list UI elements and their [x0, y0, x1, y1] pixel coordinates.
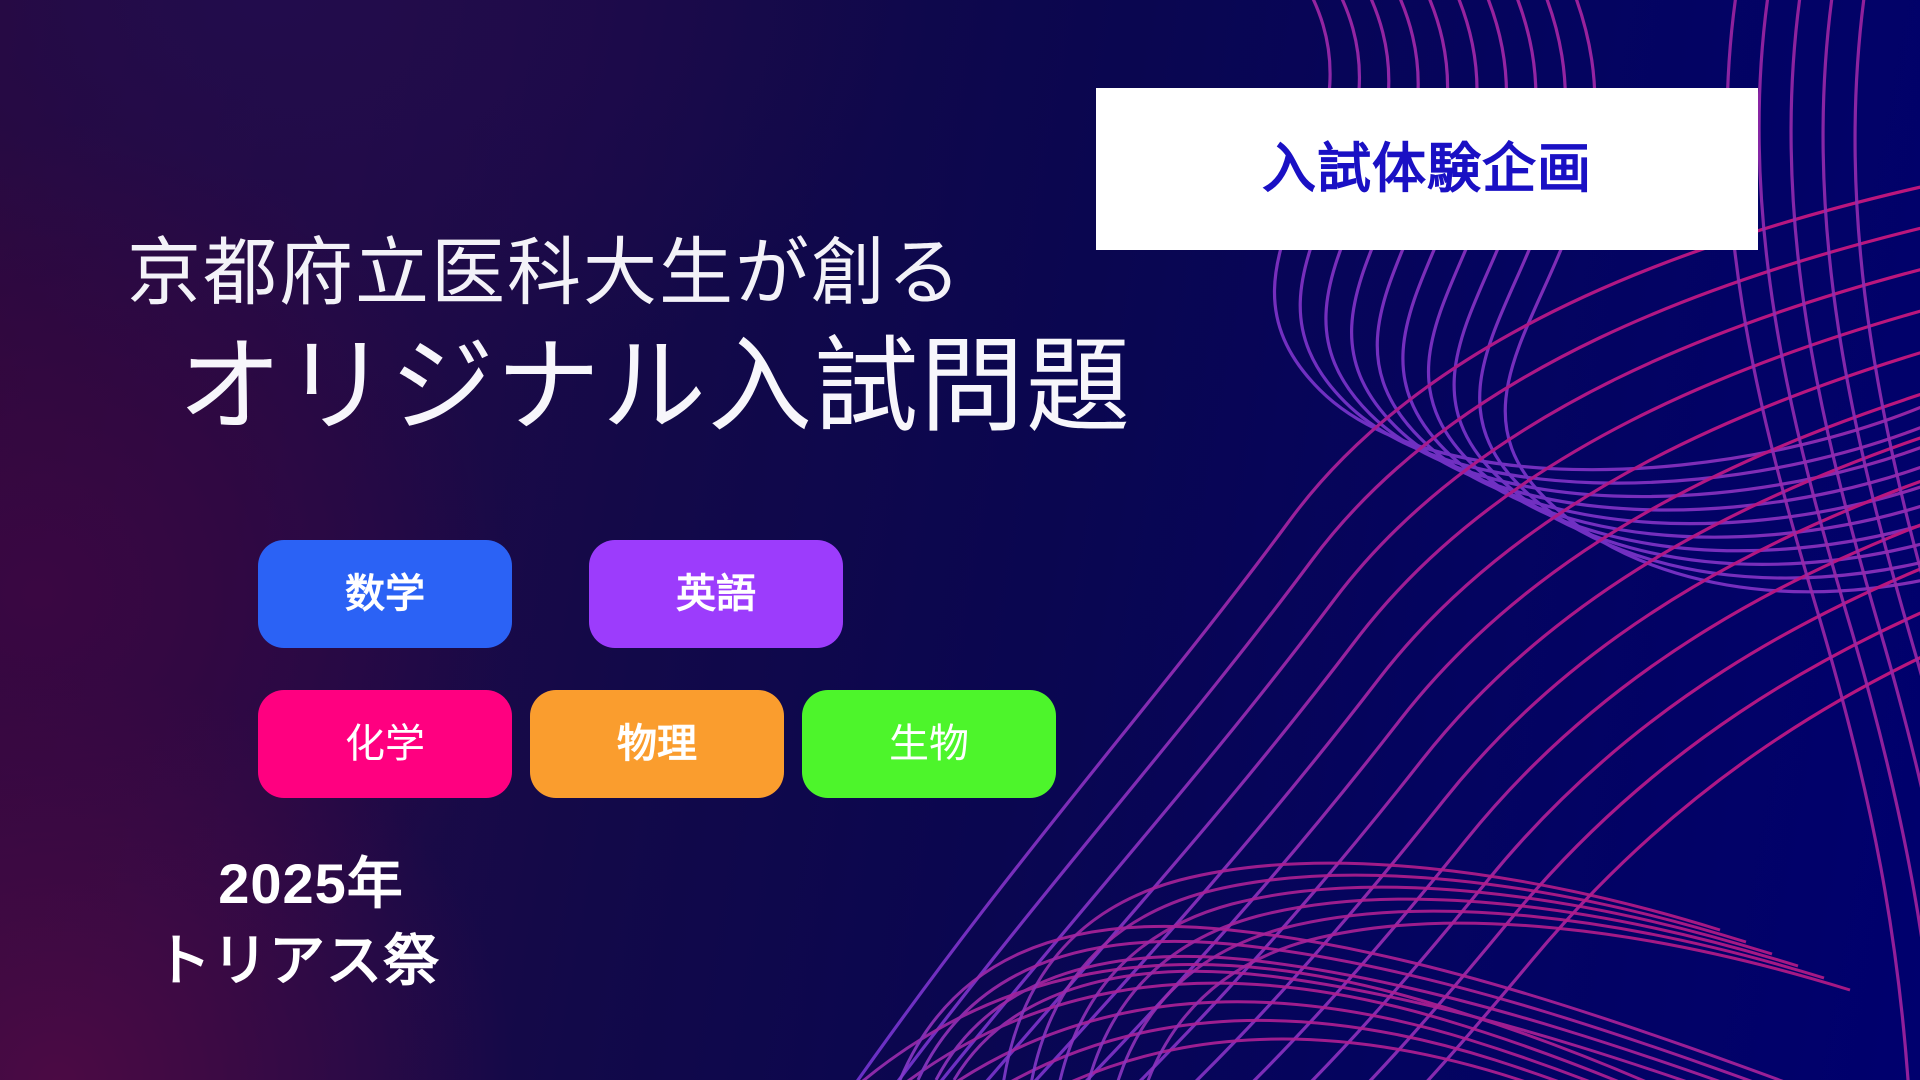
subject-pill-math-label: 数学: [345, 574, 425, 614]
subject-pill-english[interactable]: 英語: [589, 540, 843, 648]
campaign-badge: 入試体験企画: [1096, 88, 1758, 250]
subject-pill-biology-label: 生物: [889, 724, 969, 764]
subject-pill-biology[interactable]: 生物: [802, 690, 1056, 798]
subject-pill-row-1: 数学 英語: [258, 540, 843, 648]
subject-pill-chemistry-label: 化学: [345, 724, 425, 764]
event-name: トリアス祭: [155, 929, 440, 994]
headline-line-2: オリジナル入試問題: [178, 335, 1132, 439]
subject-pill-row-2: 化学 物理 生物: [258, 690, 1056, 798]
subject-pill-chemistry[interactable]: 化学: [258, 690, 512, 798]
subject-pill-physics-label: 物理: [617, 724, 697, 764]
campaign-badge-label: 入試体験企画: [1262, 142, 1592, 196]
subject-pill-physics[interactable]: 物理: [530, 690, 784, 798]
event-year: 2025年: [182, 852, 440, 917]
headline-line-1: 京都府立医科大生が創る: [127, 236, 963, 310]
subject-pill-english-label: 英語: [676, 574, 756, 614]
event-footer: 2025年 トリアス祭: [182, 852, 440, 994]
subject-pill-math[interactable]: 数学: [258, 540, 512, 648]
poster-canvas: 入試体験企画 京都府立医科大生が創る オリジナル入試問題 数学 英語 化学 物理…: [0, 0, 1920, 1080]
